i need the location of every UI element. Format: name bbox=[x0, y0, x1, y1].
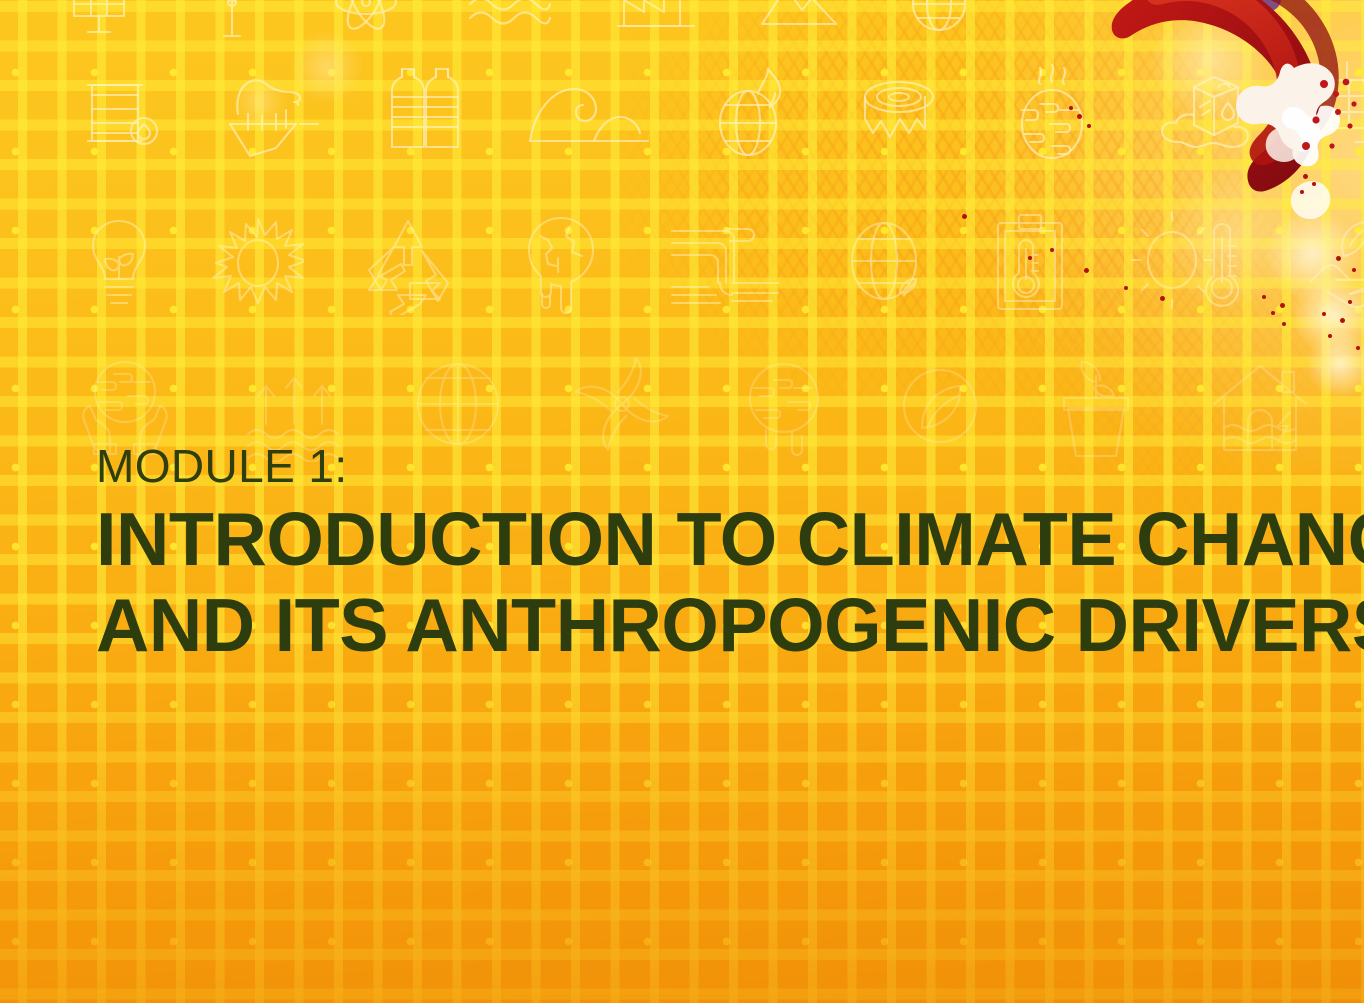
atom-icon bbox=[326, 0, 406, 42]
title-block: MODULE 1: INTRODUCTION TO CLIMATE CHANGE… bbox=[96, 438, 1326, 668]
ocean-wave-icon bbox=[524, 63, 654, 163]
factory-pipes-icon bbox=[666, 213, 784, 313]
melting-globe-icon bbox=[512, 208, 610, 318]
solar-panel-icon bbox=[60, 0, 138, 42]
hot-earth-icon bbox=[1006, 58, 1098, 168]
page-title-line-1: INTRODUCTION TO CLIMATE CHANGE bbox=[96, 496, 1308, 582]
burning-globe-icon bbox=[706, 61, 792, 166]
water-waves-icon bbox=[464, 0, 556, 42]
recycle-icon bbox=[360, 211, 456, 315]
oil-barrel-icon bbox=[78, 63, 166, 163]
module-eyebrow: MODULE 1: bbox=[96, 438, 1326, 494]
sun-icon bbox=[212, 213, 304, 313]
page-title-line-2: AND ITS ANTHROPOGENIC DRIVERS bbox=[96, 582, 1308, 668]
globe-leaf-icon bbox=[840, 211, 932, 316]
mountain-icon bbox=[756, 0, 842, 42]
tree-stump-icon bbox=[844, 63, 954, 163]
icon-row-top-cropped bbox=[60, 0, 978, 42]
red-paint-splash-graphic bbox=[1110, 0, 1364, 346]
factory-icon bbox=[614, 0, 698, 42]
slide-canvas: MODULE 1: INTRODUCTION TO CLIMATE CHANGE… bbox=[0, 0, 1364, 1003]
earth-grid-icon bbox=[900, 0, 978, 42]
plastic-bottles-icon bbox=[380, 63, 472, 163]
eco-lightbulb-icon bbox=[82, 213, 156, 313]
wind-turbine-icon bbox=[196, 0, 268, 42]
polar-bear-on-ice-icon bbox=[218, 58, 328, 168]
clipboard-thermometer-icon bbox=[988, 209, 1072, 317]
